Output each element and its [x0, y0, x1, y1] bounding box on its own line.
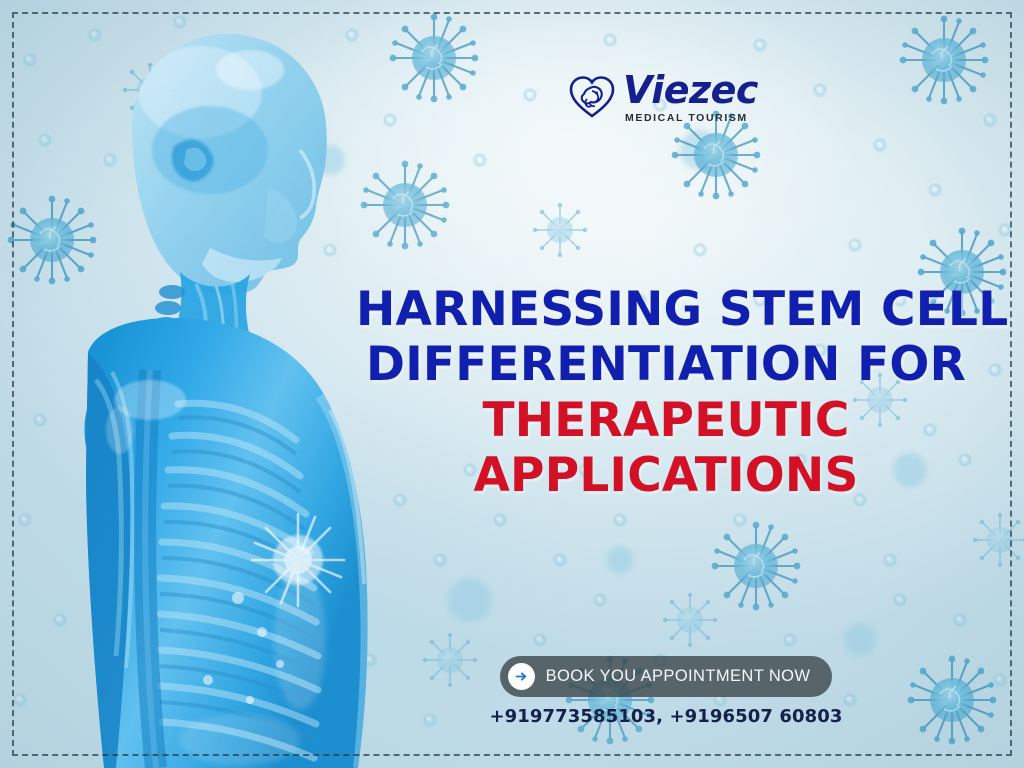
- heart-fetus-icon: [568, 73, 616, 121]
- headline-line-1: HARNESSING STEM CELL: [356, 282, 976, 337]
- chest-virus-overlay: [252, 514, 344, 606]
- headline-block: HARNESSING STEM CELL DIFFERENTIATION FOR…: [356, 282, 976, 504]
- headline-line-3: THERAPEUTIC: [356, 393, 976, 448]
- contact-phone-numbers: +919773585103, +9196507 60803: [356, 706, 976, 727]
- headline-line-4: APPLICATIONS: [356, 448, 976, 503]
- cta-block: BOOK YOU APPOINTMENT NOW +919773585103, …: [356, 656, 976, 727]
- brand-tagline: MEDICAL TOURISM: [625, 113, 758, 124]
- headline-line-2: DIFFERENTIATION FOR: [356, 337, 976, 392]
- brand-logo[interactable]: Viezec MEDICAL TOURISM: [568, 62, 748, 132]
- arrow-right-icon: [508, 663, 535, 690]
- banner-root: Viezec MEDICAL TOURISM HARNESSING STEM C…: [0, 0, 1024, 768]
- book-appointment-button[interactable]: BOOK YOU APPOINTMENT NOW: [500, 656, 833, 697]
- cta-button-label: BOOK YOU APPOINTMENT NOW: [546, 667, 811, 686]
- brand-name: Viezec: [623, 71, 758, 109]
